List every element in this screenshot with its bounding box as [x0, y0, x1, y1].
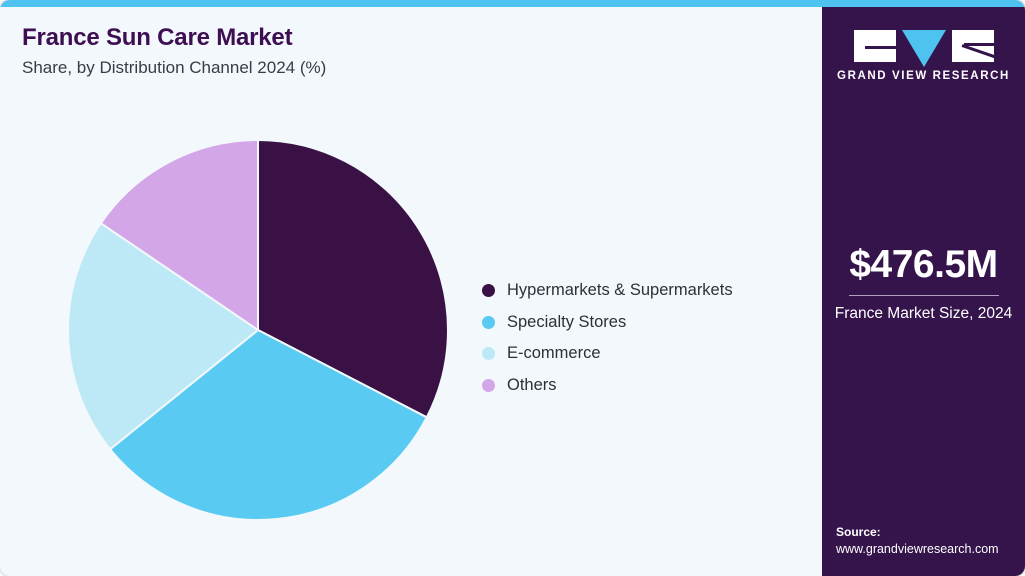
- legend-swatch-icon: [482, 347, 495, 360]
- pie-slice-group: [68, 140, 448, 520]
- chart-legend: Hypermarkets & SupermarketsSpecialty Sto…: [482, 275, 733, 401]
- source-block: Source: www.grandviewresearch.com: [836, 523, 1017, 559]
- legend-item[interactable]: Hypermarkets & Supermarkets: [482, 275, 733, 307]
- logo-v-triangle-icon: [902, 30, 946, 67]
- title-block: France Sun Care Market Share, by Distrib…: [22, 24, 326, 78]
- stat-value: $476.5M: [832, 245, 1015, 286]
- info-panel: GRAND VIEW RESEARCH $476.5M France Marke…: [822, 7, 1025, 576]
- legend-label: Hypermarkets & Supermarkets: [507, 281, 733, 300]
- legend-label: Specialty Stores: [507, 313, 626, 332]
- chart-card: France Sun Care Market Share, by Distrib…: [0, 0, 1025, 576]
- pie-chart: [68, 140, 448, 520]
- legend-label: E-commerce: [507, 344, 601, 363]
- top-accent-bar: [0, 0, 1025, 7]
- stat-block: $476.5M France Market Size, 2024: [822, 245, 1025, 325]
- page-subtitle: Share, by Distribution Channel 2024 (%): [22, 58, 326, 78]
- brand-name: GRAND VIEW RESEARCH: [822, 70, 1025, 82]
- page-title: France Sun Care Market: [22, 24, 326, 52]
- logo-marks: [822, 30, 1025, 63]
- legend-item[interactable]: Specialty Stores: [482, 307, 733, 339]
- legend-item[interactable]: E-commerce: [482, 338, 733, 370]
- legend-swatch-icon: [482, 379, 495, 392]
- logo-r-icon: [952, 30, 994, 62]
- source-label: Source:: [836, 523, 1017, 541]
- stat-caption: France Market Size, 2024: [832, 304, 1015, 325]
- brand-logo: GRAND VIEW RESEARCH: [822, 30, 1025, 82]
- stat-divider: [849, 295, 999, 296]
- pie-chart-svg: [68, 140, 448, 520]
- legend-item[interactable]: Others: [482, 370, 733, 402]
- source-url[interactable]: www.grandviewresearch.com: [836, 541, 1017, 559]
- legend-swatch-icon: [482, 284, 495, 297]
- logo-g-icon: [854, 30, 896, 62]
- legend-label: Others: [507, 376, 557, 395]
- legend-swatch-icon: [482, 316, 495, 329]
- chart-area: France Sun Care Market Share, by Distrib…: [0, 7, 822, 576]
